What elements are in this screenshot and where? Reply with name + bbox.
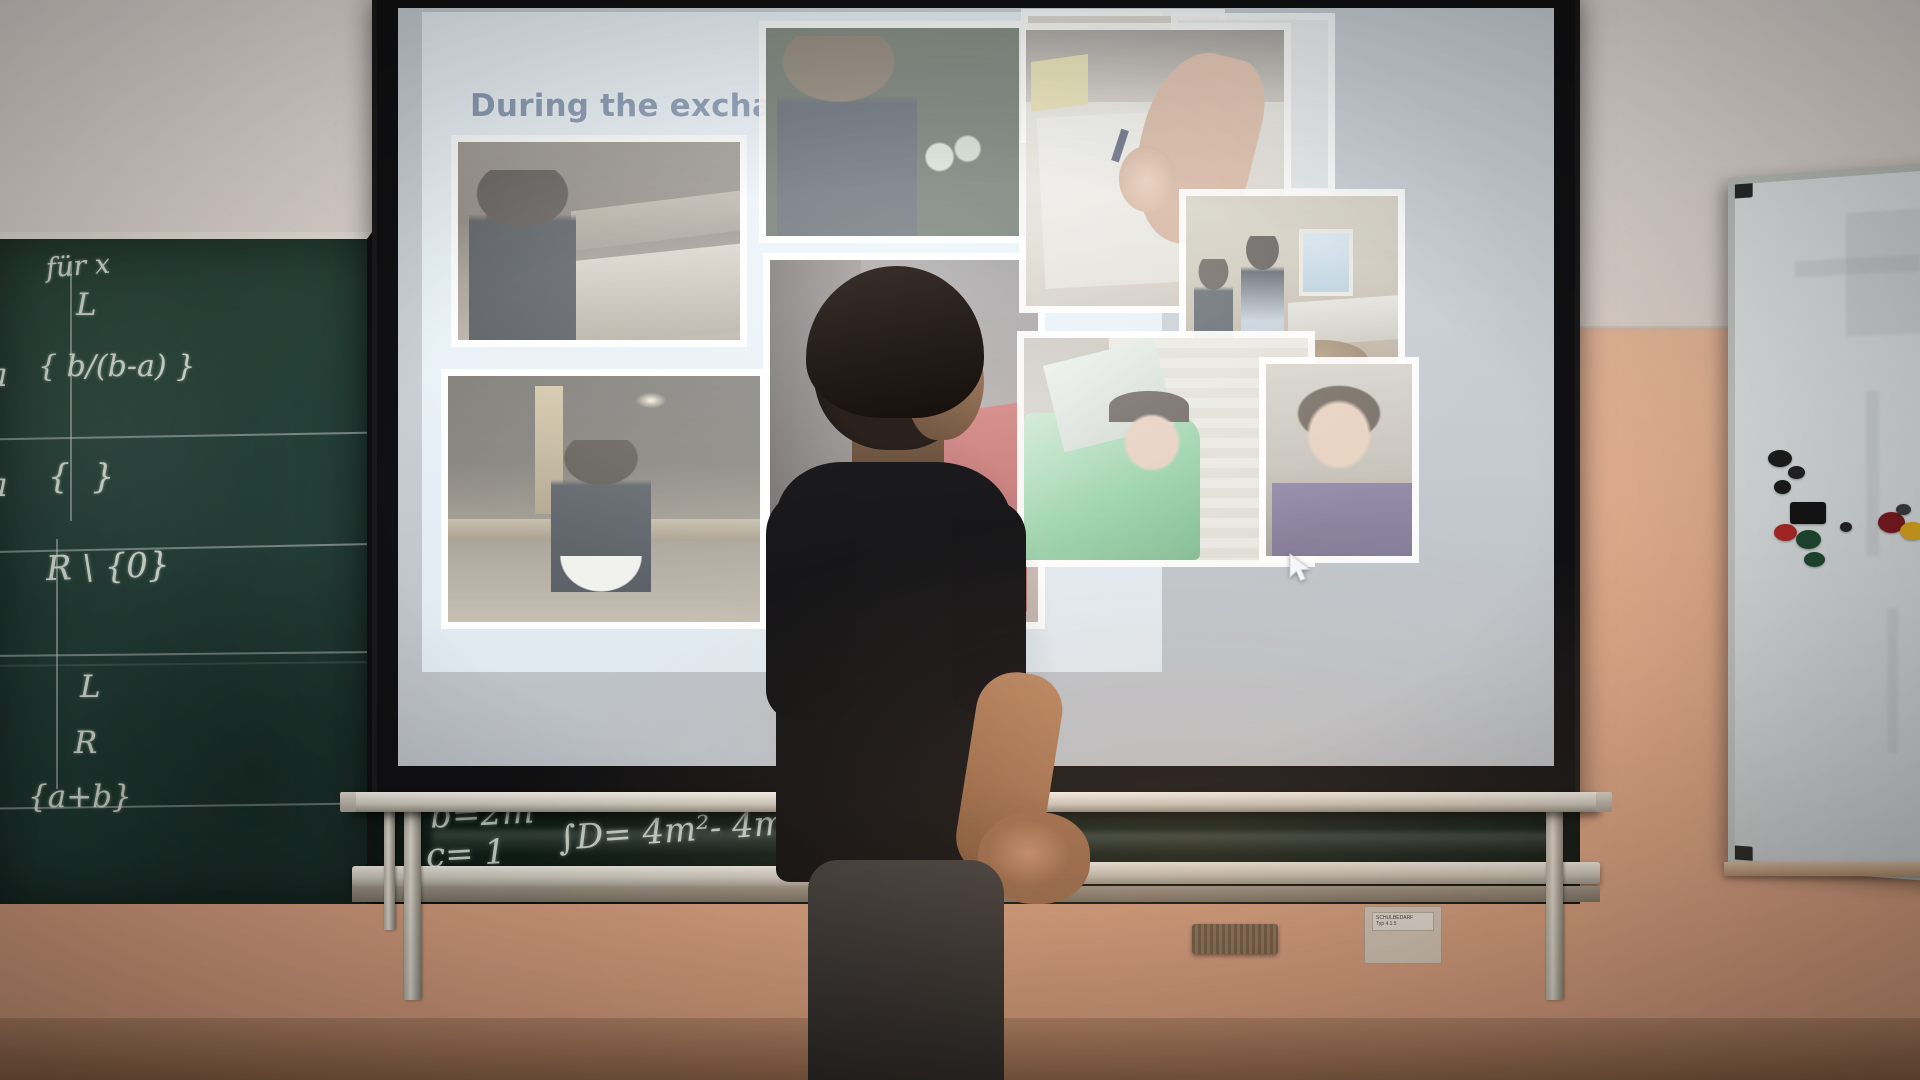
magnet[interactable] xyxy=(1804,552,1825,567)
photo-kitchen-cook xyxy=(448,376,760,622)
mouse-pointer-icon xyxy=(1288,553,1314,585)
chalk-line: {a+b} xyxy=(28,779,132,815)
equipment-label: SCHULBEDARF Typ 4.1.5 xyxy=(1372,912,1434,931)
magnet[interactable] xyxy=(1774,524,1797,541)
equipment-label-line2: Typ 4.1.5 xyxy=(1376,921,1430,927)
magnet[interactable] xyxy=(1896,504,1911,515)
magnet[interactable] xyxy=(1774,480,1791,494)
board-sponge[interactable] xyxy=(1192,924,1278,954)
board-leg-left xyxy=(404,790,421,1000)
screen-endcap-right xyxy=(1596,792,1612,812)
magnet[interactable] xyxy=(1900,522,1920,540)
photo-night-outdoors xyxy=(766,28,1046,236)
chalk-line: für x xyxy=(45,249,111,284)
chalk-line: R \ {0} xyxy=(45,545,170,589)
magnet[interactable] xyxy=(1788,466,1805,479)
magnet[interactable] xyxy=(1840,522,1852,532)
presenter xyxy=(756,272,1056,1080)
classroom-scene: für x L a { b/(b-a) } a { } R \ {0} L R … xyxy=(0,0,1920,1080)
chalk-line: L xyxy=(80,669,101,705)
chalk-line: a xyxy=(0,355,8,394)
chalkboard-left: für x L a { b/(b-a) } a { } R \ {0} L R … xyxy=(0,232,372,904)
chalk-line: { } xyxy=(48,457,120,497)
chalk-line: a xyxy=(0,465,8,504)
photo-dinner-table xyxy=(458,142,740,340)
board-leg-left-inner xyxy=(384,800,395,930)
magnet[interactable] xyxy=(1796,530,1821,549)
whiteboard-shelf xyxy=(1724,862,1920,877)
chalk-line: { b/(b-a) } xyxy=(38,349,195,384)
chalk-line: L xyxy=(76,287,97,323)
magnet-bar[interactable] xyxy=(1790,502,1826,524)
board-leg-right xyxy=(1546,790,1563,1000)
screen-endcap-left xyxy=(340,792,356,812)
chalk-line: R xyxy=(74,725,97,761)
photo-portrait-purple xyxy=(1266,364,1412,556)
magnet[interactable] xyxy=(1768,450,1792,467)
